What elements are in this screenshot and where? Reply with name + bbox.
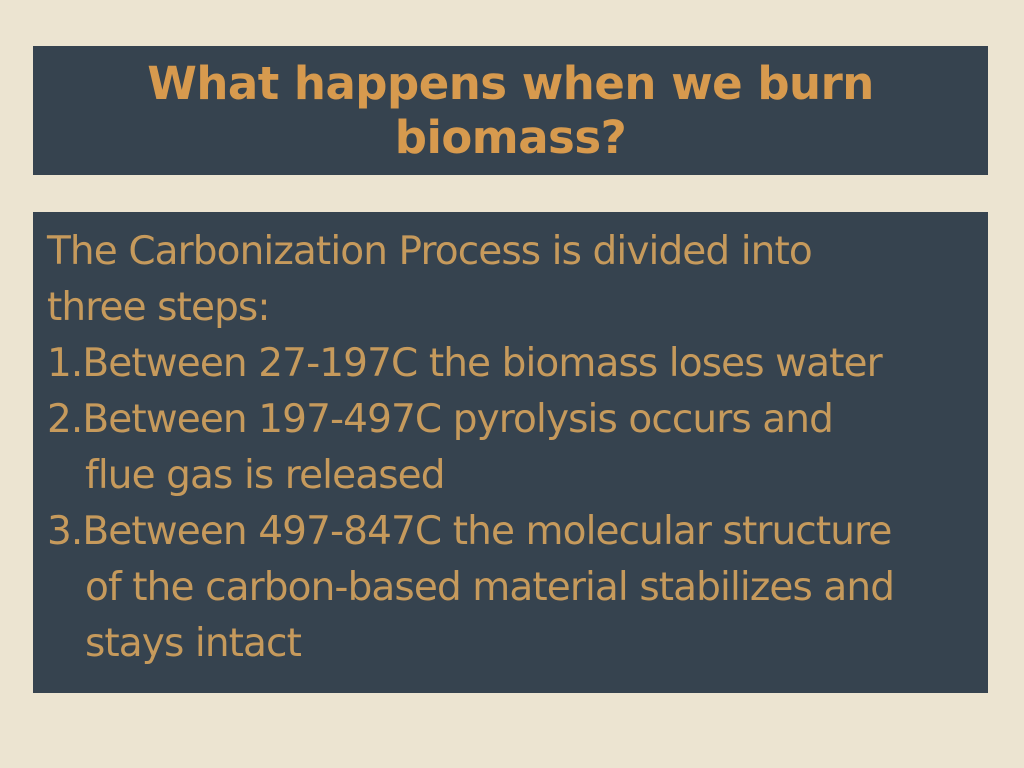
body-line: of the carbon-based material stabilizes … [47,560,980,616]
body-text-block: The Carbonization Process is divided int… [47,224,980,672]
body-panel: The Carbonization Process is divided int… [33,212,988,693]
body-line: 3.Between 497-847C the molecular structu… [47,504,980,560]
body-line: 2.Between 197-497C pyrolysis occurs and [47,392,980,448]
body-line: 1.Between 27-197C the biomass loses wate… [47,336,980,392]
body-line: flue gas is released [47,448,980,504]
slide: What happens when we burn biomass? The C… [0,0,1024,768]
title-panel: What happens when we burn biomass? [33,46,988,175]
body-line: stays intact [47,616,980,672]
body-line: three steps: [47,280,980,336]
body-line: The Carbonization Process is divided int… [47,224,980,280]
page-title: What happens when we burn biomass? [121,57,901,163]
